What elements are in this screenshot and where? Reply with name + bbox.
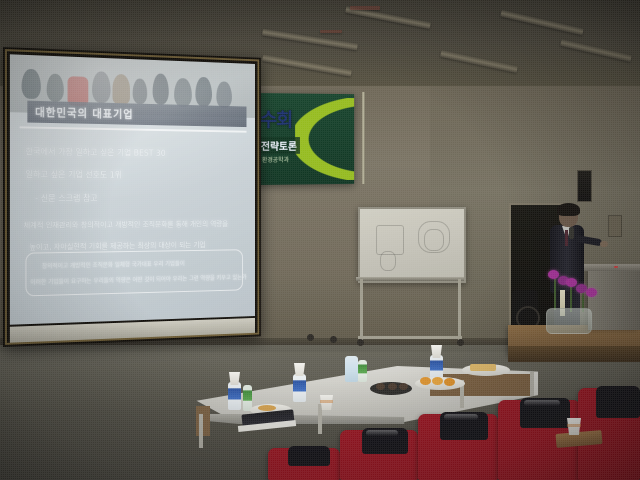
banner-title: 수회	[260, 105, 292, 132]
flower-basket	[546, 308, 592, 334]
flower-bloom-icon	[586, 288, 597, 297]
ceiling-light-icon	[560, 39, 632, 62]
flower-arrangement	[540, 262, 602, 332]
seat-gloss	[524, 400, 560, 406]
flower-bloom-icon	[548, 270, 559, 279]
ceiling-light-icon	[262, 29, 358, 51]
table-leg	[199, 414, 203, 448]
water-bottle[interactable]	[345, 356, 358, 382]
orange-slice	[420, 377, 431, 385]
ceiling-light-icon	[262, 54, 352, 77]
presentation-slide: 대한민국의 대표기업 한국에서 가장 일하고 싶은 기업 BEST 30 일하고…	[10, 54, 255, 324]
projection-screen: 대한민국의 대표기업 한국에서 가장 일하고 싶은 기업 BEST 30 일하고…	[3, 47, 261, 347]
whiteboard-drawing	[424, 229, 444, 251]
whiteboard-caster-icon	[330, 336, 337, 343]
photo-object	[174, 78, 192, 107]
paper-cup[interactable]	[431, 345, 442, 358]
ceiling-light-icon	[320, 30, 342, 33]
cracker	[470, 364, 496, 371]
photo-object	[47, 74, 64, 102]
orange-slice	[444, 378, 455, 386]
ceiling-light-icon	[500, 10, 583, 36]
seat-headrest	[288, 446, 330, 466]
presenter-hair	[557, 203, 580, 216]
whiteboard	[358, 207, 466, 283]
slide-line: 체계적 인재관리와 창의적이고 개방적인 조직문화를 통해 개인의 역량을	[23, 220, 246, 230]
green-bottle[interactable]	[358, 360, 367, 382]
whiteboard-drawing	[380, 251, 396, 271]
banner-org: 환경공학과	[262, 155, 289, 164]
slide-callout-box: 창의적이고 개방적인 조직문화 일체형 국가대표 우리 기업들이 이러한 기업들…	[25, 249, 243, 296]
slide-line: 일하고 싶은 기업 선호도 1위	[25, 172, 246, 182]
whiteboard-leg	[458, 279, 461, 341]
stage-front-face	[508, 346, 640, 362]
water-bottle[interactable]	[228, 382, 241, 410]
slide-divider	[20, 126, 247, 132]
paper-cup[interactable]	[229, 372, 240, 385]
cup-band	[567, 424, 581, 427]
slide-title: 대한민국의 대표기업	[27, 104, 133, 122]
table-leg	[318, 404, 322, 434]
conference-room-photo: 수회 전략토론 환경공학과	[0, 0, 640, 480]
lectern-indicator-icon	[614, 266, 618, 268]
dark-snack	[388, 383, 397, 390]
ceiling-light-icon	[350, 6, 380, 10]
photo-object	[216, 81, 232, 108]
screen-surface: 대한민국의 대표기업 한국에서 가장 일하고 싶은 기업 BEST 30 일하고…	[10, 54, 255, 324]
whiteboard-caster-icon	[457, 339, 464, 346]
banner-pole	[362, 92, 365, 184]
wall-speaker-icon	[577, 170, 592, 202]
whiteboard-caster-icon	[307, 334, 314, 341]
ceiling-light-icon	[440, 50, 518, 73]
orange-slice	[432, 377, 443, 385]
banner-subtitle: 전략토론	[258, 137, 300, 154]
photo-object	[112, 74, 129, 104]
snack-food	[258, 405, 276, 411]
cup-band	[320, 400, 333, 403]
slide-callout-line: 창의적이고 개방적인 조직문화 일체형 국가대표 우리 기업들이	[42, 260, 237, 271]
whiteboard-leg	[360, 279, 363, 341]
photo-object	[153, 73, 169, 104]
seat-headrest	[596, 386, 640, 418]
slide-body: 한국에서 가장 일하고 싶은 기업 BEST 30 일하고 싶은 기업 선호도 …	[20, 134, 247, 254]
photo-object	[92, 71, 111, 103]
wall-panel	[608, 215, 622, 237]
whiteboard-caster-icon	[357, 339, 364, 346]
water-bottle[interactable]	[293, 374, 306, 402]
whiteboard-marker-tray	[356, 277, 464, 281]
dark-snack	[399, 383, 408, 390]
event-banner: 수회 전략토론 환경공학과	[256, 93, 354, 185]
photo-object	[195, 77, 212, 107]
seat-gloss	[444, 414, 478, 420]
presenter-tie	[565, 230, 568, 246]
paper-cup[interactable]	[294, 363, 305, 376]
presenter-hand	[600, 241, 608, 247]
flower-bloom-icon	[566, 278, 577, 287]
slide-callout-line: 이러한 기업들이 요구하는 우리들의 역량은 어떤 것이 되어야 우리는 그런 …	[30, 274, 237, 286]
photo-object	[133, 78, 148, 103]
seat-gloss	[366, 430, 398, 436]
table-leg	[530, 372, 534, 396]
photo-object	[22, 69, 41, 99]
flower-stem	[554, 276, 556, 310]
slide-line: - 신문 스크랩 참고	[35, 195, 246, 204]
slide-line: 한국에서 가장 일하고 싶은 기업 BEST 30	[25, 148, 246, 160]
dark-snack	[376, 383, 385, 390]
whiteboard-crossbar	[358, 336, 462, 339]
banner-chevron-icon	[295, 97, 354, 180]
